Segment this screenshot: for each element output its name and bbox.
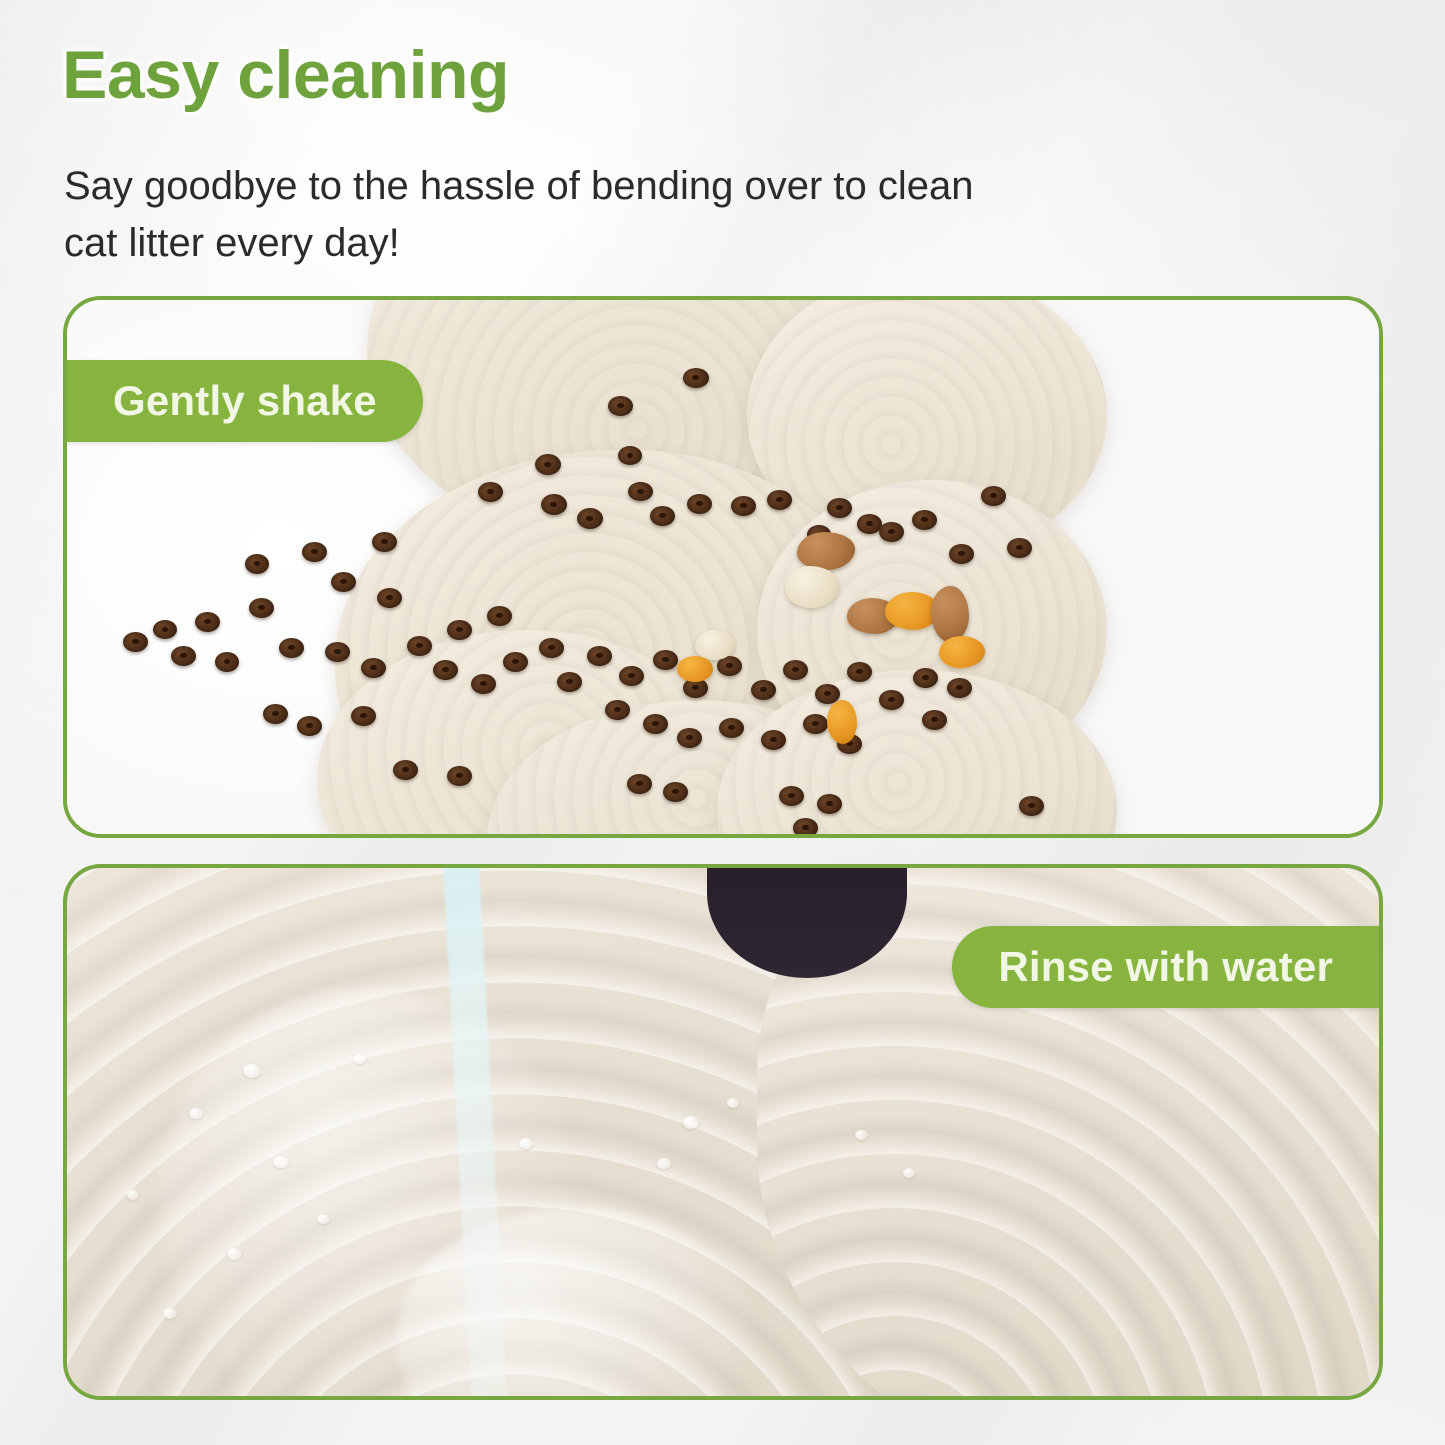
kibble-piece: [947, 678, 972, 698]
kibble-piece: [731, 496, 756, 516]
kibble-piece: [619, 666, 644, 686]
kibble-piece: [981, 486, 1006, 506]
kibble-piece: [663, 782, 688, 802]
kibble-piece: [912, 510, 937, 530]
step-card-rinse-with-water: Rinse with water: [63, 864, 1383, 1400]
water-droplet: [727, 1098, 739, 1108]
kibble-piece: [245, 554, 269, 574]
kibble-piece: [302, 542, 327, 562]
kibble-piece: [249, 598, 274, 618]
kibble-piece: [577, 508, 603, 529]
kibble-piece: [608, 396, 633, 416]
kibble-piece: [153, 620, 177, 639]
kibble-piece: [643, 714, 668, 734]
kibble-piece: [407, 636, 432, 656]
water-droplet: [353, 1054, 366, 1064]
water-droplet: [127, 1190, 139, 1200]
infographic-page: Easy cleaning Say goodbye to the hassle …: [0, 0, 1445, 1445]
water-droplet: [855, 1130, 868, 1140]
kibble-piece: [1007, 538, 1032, 558]
kibble-piece: [471, 674, 496, 694]
kibble-chunk-orange: [827, 700, 857, 744]
kibble-piece: [793, 818, 818, 834]
kibble-piece: [605, 700, 630, 720]
water-droplet: [519, 1138, 533, 1149]
kibble-piece: [393, 760, 418, 780]
kibble-piece: [447, 766, 472, 786]
kibble-piece: [487, 606, 512, 626]
kibble-piece: [215, 652, 239, 672]
kibble-piece: [433, 660, 458, 680]
kibble-piece: [541, 494, 567, 515]
kibble-piece: [557, 672, 582, 692]
water-droplet: [163, 1308, 177, 1319]
water-droplet: [227, 1248, 242, 1260]
kibble-piece: [171, 646, 196, 666]
kibble-piece: [779, 786, 804, 806]
kibble-piece: [677, 728, 702, 748]
kibble-piece: [783, 660, 808, 680]
kibble-piece: [263, 704, 288, 724]
kibble-chunk-tan: [931, 586, 969, 642]
page-subtitle: Say goodbye to the hassle of bending ove…: [64, 158, 1024, 272]
step-card-gently-shake: Gently shake: [63, 296, 1383, 838]
kibble-piece: [361, 658, 386, 678]
kibble-piece: [123, 632, 148, 652]
kibble-piece: [803, 714, 828, 734]
kibble-piece: [372, 532, 397, 552]
kibble-piece: [767, 490, 792, 510]
kibble-piece: [325, 642, 350, 662]
kibble-piece: [377, 588, 402, 608]
kibble-piece: [817, 794, 842, 814]
kibble-piece: [879, 690, 904, 710]
kibble-piece: [949, 544, 974, 564]
kibble-piece: [719, 718, 744, 738]
kibble-piece: [922, 710, 947, 730]
kibble-piece: [478, 482, 503, 502]
kibble-piece: [847, 662, 872, 682]
water-droplet: [657, 1158, 671, 1169]
page-title: Easy cleaning: [62, 36, 509, 114]
kibble-piece: [628, 482, 653, 501]
kibble-piece: [827, 498, 852, 518]
kibble-piece: [351, 706, 376, 726]
kibble-piece: [627, 774, 652, 794]
kibble-piece: [279, 638, 304, 658]
kibble-piece: [297, 716, 322, 736]
water-droplet: [243, 1064, 261, 1078]
kibble-piece: [913, 668, 938, 688]
kibble-piece: [331, 572, 356, 592]
kibble-piece: [447, 620, 472, 640]
water-droplet: [683, 1116, 699, 1129]
kibble-piece: [761, 730, 786, 750]
kibble-piece: [503, 652, 528, 672]
water-droplet: [903, 1168, 915, 1178]
kibble-piece: [683, 368, 709, 388]
kibble-piece: [587, 646, 612, 666]
water-droplet: [317, 1214, 330, 1224]
kibble-piece: [535, 454, 561, 475]
water-droplet: [189, 1108, 203, 1119]
kibble-piece: [618, 446, 642, 465]
kibble-piece: [653, 650, 678, 670]
kibble-piece: [1019, 796, 1044, 816]
water-droplet: [273, 1156, 289, 1168]
kibble-piece: [751, 680, 776, 700]
kibble-piece: [687, 494, 712, 514]
kibble-piece: [650, 506, 675, 526]
kibble-piece: [879, 522, 904, 542]
kibble-piece: [195, 612, 220, 632]
badge-gently-shake: Gently shake: [65, 360, 423, 442]
kibble-piece: [539, 638, 564, 658]
kibble-chunk-orange: [677, 656, 713, 682]
badge-rinse-with-water: Rinse with water: [952, 926, 1381, 1008]
